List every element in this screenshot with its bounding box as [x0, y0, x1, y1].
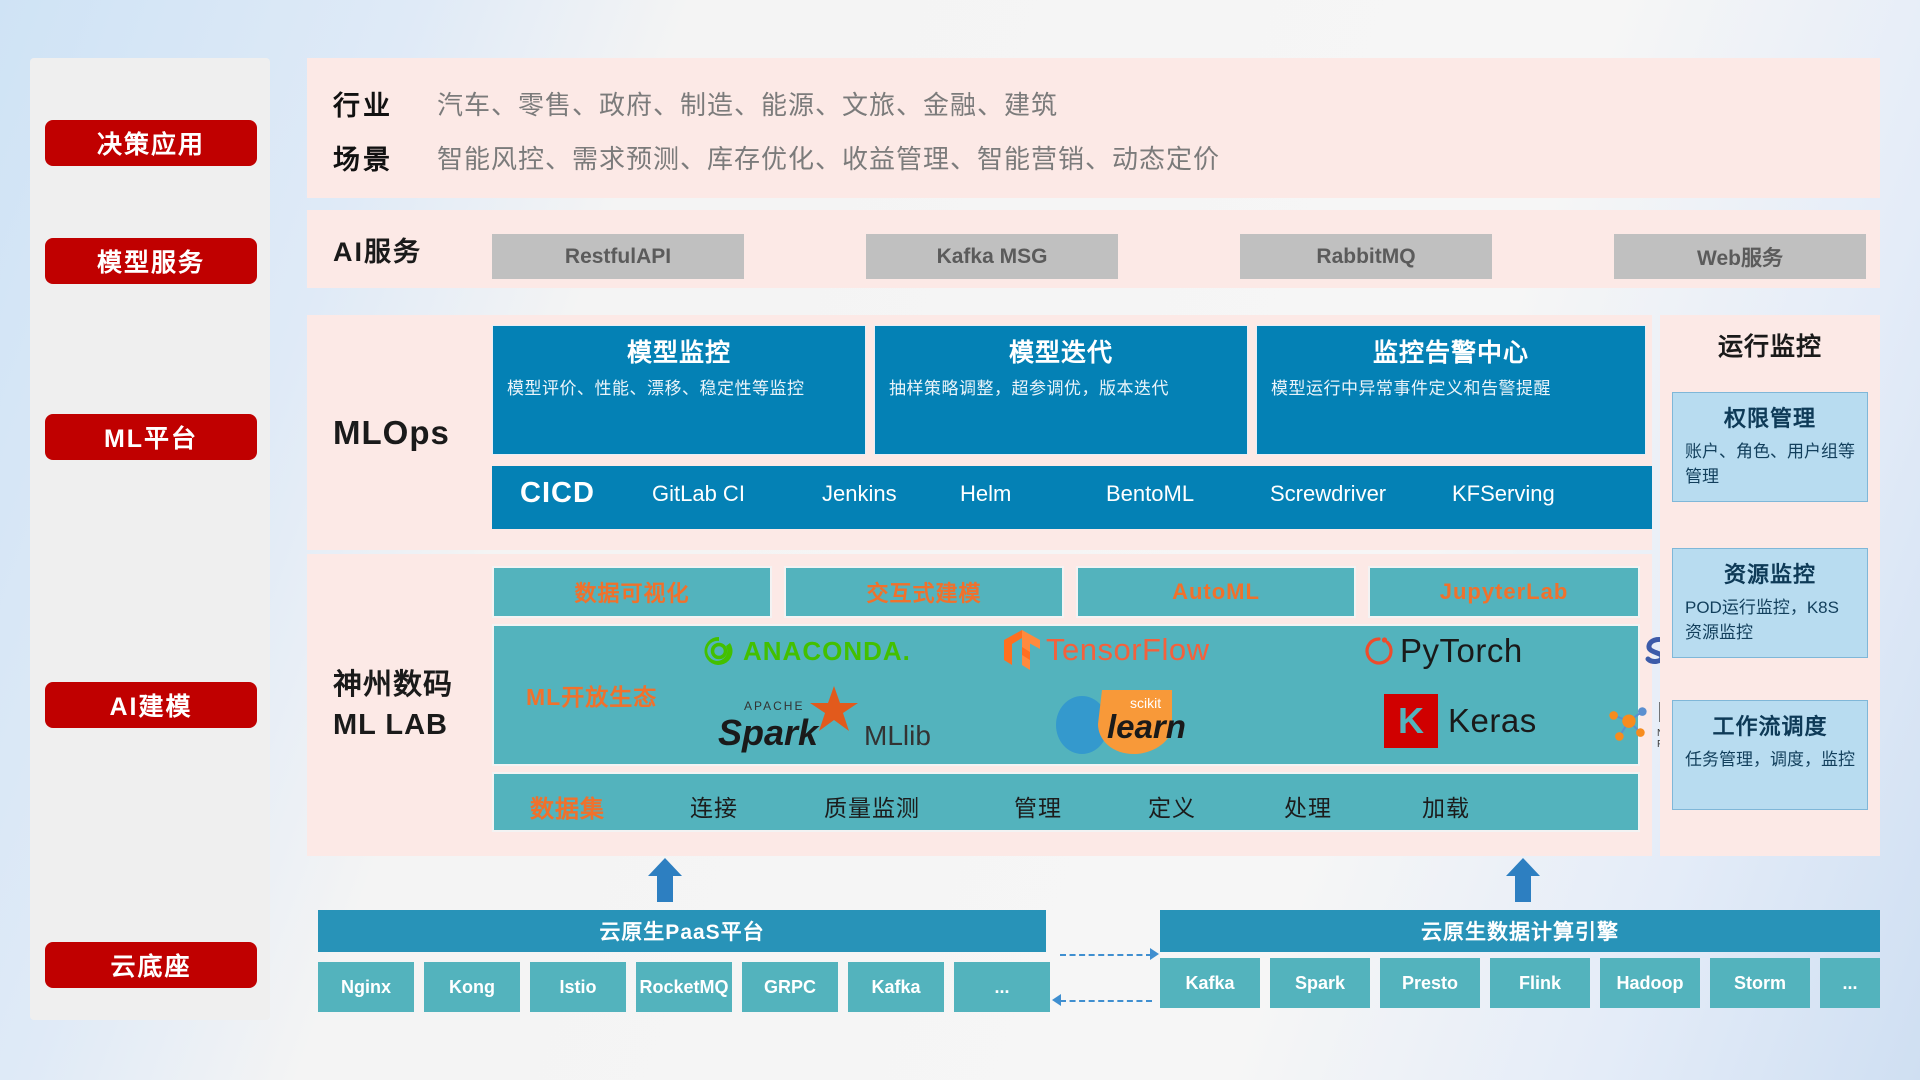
spark-apache-text: APACHE [744, 699, 804, 713]
ml-lab-line1: 神州数码 [333, 665, 453, 705]
ai-service-label: AI服务 [333, 210, 422, 288]
card-desc: POD运行监控，K8S资源监控 [1685, 595, 1855, 645]
scenario-value: 智能风控、需求预测、库存优化、收益管理、智能营销、动态定价 [437, 139, 1220, 176]
card-desc: 抽样策略调整，超参调优，版本迭代 [889, 376, 1233, 401]
dashed-arrow-left-icon [1052, 994, 1061, 1006]
spark-mllib-logo: APACHE Spark MLlib [716, 698, 956, 760]
keras-mark-icon: K [1384, 694, 1438, 748]
engine-cell-more[interactable]: ... [1820, 958, 1880, 1008]
pytorch-logo: PyTorch [1364, 632, 1523, 670]
card-title: 权限管理 [1685, 401, 1855, 433]
dataset-item-process[interactable]: 处理 [1284, 789, 1332, 823]
paas-cell-kafka[interactable]: Kafka [848, 962, 944, 1012]
dataset-bar: 数据集 连接 质量监测 管理 定义 处理 加载 [492, 772, 1640, 832]
ml-ecosystem-box: ML开放生态 ANACONDA. TensorFlow PyTorc [492, 624, 1640, 766]
tensorflow-mark-icon [1004, 630, 1040, 670]
runtime-monitor-title: 运行监控 [1660, 320, 1880, 370]
anaconda-mark-icon [702, 634, 736, 668]
cicd-title: CICD [520, 477, 595, 510]
ai-service-web[interactable]: Web服务 [1614, 234, 1866, 279]
anaconda-logo: ANACONDA. [702, 634, 911, 668]
rail-chip-ml-platform[interactable]: ML平台 [45, 414, 257, 460]
architecture-diagram: 决策应用 模型服务 ML平台 AI建模 云底座 行业 汽车、零售、政府、制造、能… [0, 0, 1920, 1080]
keras-k-glyph: K [1398, 703, 1424, 739]
card-title: 工作流调度 [1685, 709, 1855, 741]
engine-cell-kafka[interactable]: Kafka [1160, 958, 1260, 1008]
ai-service-restfulapi[interactable]: RestfulAPI [492, 234, 744, 279]
paas-cell-grpc[interactable]: GRPC [742, 962, 838, 1012]
card-desc: 账户、角色、用户组等管理 [1685, 439, 1855, 489]
cicd-item-bentoml[interactable]: BentoML [1106, 480, 1216, 507]
cicd-item-kfserving[interactable]: KFServing [1452, 480, 1562, 507]
card-desc: 模型评价、性能、漂移、稳定性等监控 [507, 376, 851, 401]
mlops-card-model-iteration[interactable]: 模型迭代 抽样策略调整，超参调优，版本迭代 [874, 325, 1248, 455]
tool-interactive-modeling[interactable]: 交互式建模 [784, 566, 1064, 618]
mlops-label: MLOps [333, 315, 450, 550]
spark-wordmark: Spark [718, 712, 818, 754]
arrow-up-data-engine [1506, 858, 1540, 902]
dataset-item-connect[interactable]: 连接 [690, 789, 738, 823]
card-desc: 模型运行中异常事件定义和告警提醒 [1271, 376, 1631, 401]
dataset-item-load[interactable]: 加载 [1422, 789, 1470, 823]
industry-label: 行业 [333, 84, 437, 123]
mlops-card-model-monitor[interactable]: 模型监控 模型评价、性能、漂移、稳定性等监控 [492, 325, 866, 455]
paas-cell-istio[interactable]: Istio [530, 962, 626, 1012]
industry-scenario-row: 行业 汽车、零售、政府、制造、能源、文旅、金融、建筑 场景 智能风控、需求预测、… [307, 58, 1880, 198]
mllib-wordmark: MLlib [864, 720, 931, 752]
dashed-link-left [1060, 1000, 1152, 1002]
dashed-link-right [1060, 954, 1152, 956]
arrow-up-paas [648, 858, 682, 902]
cicd-item-screwdriver[interactable]: Screwdriver [1270, 480, 1380, 507]
paas-cell-more[interactable]: ... [954, 962, 1050, 1012]
ai-service-kafka-msg[interactable]: Kafka MSG [866, 234, 1118, 279]
ml-lab-label: 神州数码 ML LAB [333, 554, 453, 856]
rail-chip-ai-modeling[interactable]: AI建模 [45, 682, 257, 728]
anaconda-wordmark: ANACONDA. [743, 636, 911, 667]
paas-cell-nginx[interactable]: Nginx [318, 962, 414, 1012]
monitor-card-workflow[interactable]: 工作流调度 任务管理，调度，监控 [1672, 700, 1868, 810]
engine-cell-presto[interactable]: Presto [1380, 958, 1480, 1008]
dataset-label: 数据集 [530, 789, 605, 824]
left-rail: 决策应用 模型服务 ML平台 AI建模 云底座 [30, 58, 270, 1020]
pytorch-wordmark: PyTorch [1400, 632, 1523, 670]
rail-chip-decision[interactable]: 决策应用 [45, 120, 257, 166]
card-title: 资源监控 [1685, 557, 1855, 589]
tool-automl[interactable]: AutoML [1076, 566, 1356, 618]
cicd-item-helm[interactable]: Helm [960, 480, 1070, 507]
tensorflow-wordmark: TensorFlow [1046, 632, 1210, 668]
tensorflow-logo: TensorFlow [1004, 630, 1210, 670]
industry-pair: 行业 汽车、零售、政府、制造、能源、文旅、金融、建筑 [333, 84, 1058, 123]
industry-value: 汽车、零售、政府、制造、能源、文旅、金融、建筑 [437, 85, 1058, 122]
scikit-learn-logo: scikit learn [1052, 690, 1252, 756]
cicd-bar: CICD GitLab CI Jenkins Helm BentoML Scre… [492, 466, 1652, 529]
dataset-item-quality[interactable]: 质量监测 [824, 789, 920, 823]
ai-service-rabbitmq[interactable]: RabbitMQ [1240, 234, 1492, 279]
keras-wordmark: Keras [1448, 702, 1537, 740]
tool-jupyterlab[interactable]: JupyterLab [1368, 566, 1640, 618]
engine-cell-storm[interactable]: Storm [1710, 958, 1810, 1008]
mlops-card-alert-center[interactable]: 监控告警中心 模型运行中异常事件定义和告警提醒 [1256, 325, 1646, 455]
cicd-item-jenkins[interactable]: Jenkins [822, 480, 932, 507]
paas-bar: 云原生PaaS平台 [318, 910, 1046, 952]
card-title: 监控告警中心 [1271, 336, 1631, 370]
rail-chip-model-service[interactable]: 模型服务 [45, 238, 257, 284]
pytorch-mark-icon [1364, 634, 1394, 668]
paas-cell-rocketmq[interactable]: RocketMQ [636, 962, 732, 1012]
rail-chip-cloud-base[interactable]: 云底座 [45, 942, 257, 988]
card-title: 模型监控 [507, 336, 851, 370]
dashed-arrow-right-icon [1150, 948, 1159, 960]
monitor-card-permission[interactable]: 权限管理 账户、角色、用户组等管理 [1672, 392, 1868, 502]
ml-ecosystem-label: ML开放生态 [526, 678, 657, 712]
ml-lab-line2: ML LAB [333, 705, 453, 745]
card-title: 模型迭代 [889, 336, 1233, 370]
engine-cell-hadoop[interactable]: Hadoop [1600, 958, 1700, 1008]
cicd-item-gitlab-ci[interactable]: GitLab CI [652, 480, 762, 507]
monitor-card-resource[interactable]: 资源监控 POD运行监控，K8S资源监控 [1672, 548, 1868, 658]
scenario-pair: 场景 智能风控、需求预测、库存优化、收益管理、智能营销、动态定价 [333, 138, 1220, 177]
keras-logo: K Keras [1384, 694, 1537, 748]
dataset-item-define[interactable]: 定义 [1148, 789, 1196, 823]
dataset-item-manage[interactable]: 管理 [1014, 789, 1062, 823]
learn-wordmark: learn [1107, 708, 1186, 746]
networkx-graph-icon [1606, 701, 1650, 747]
engine-cell-spark[interactable]: Spark [1270, 958, 1370, 1008]
card-desc: 任务管理，调度，监控 [1685, 747, 1855, 772]
engine-cell-flink[interactable]: Flink [1490, 958, 1590, 1008]
data-engine-bar: 云原生数据计算引擎 [1160, 910, 1880, 952]
scenario-label: 场景 [333, 138, 437, 177]
tool-data-visualization[interactable]: 数据可视化 [492, 566, 772, 618]
paas-cell-kong[interactable]: Kong [424, 962, 520, 1012]
